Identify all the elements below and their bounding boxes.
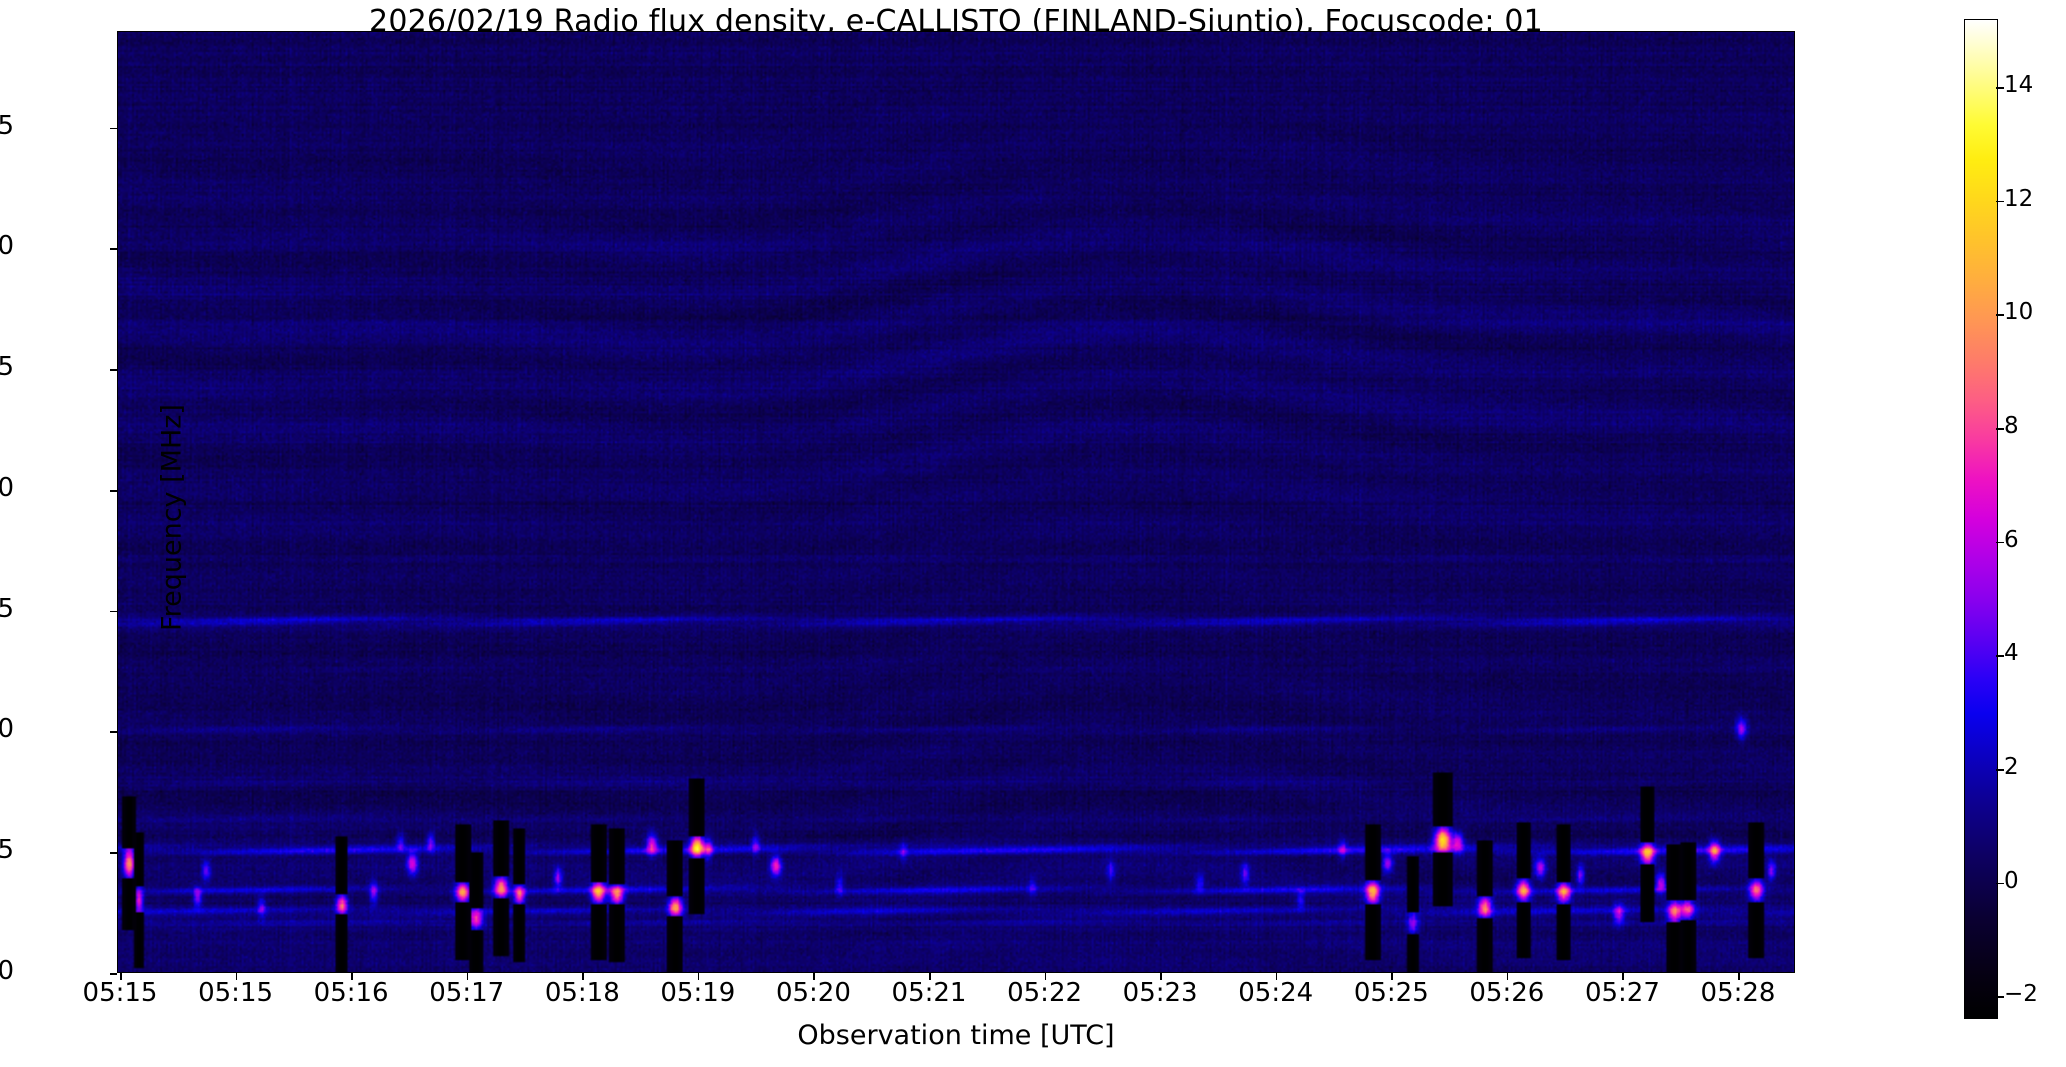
colorbar-tick-mark (1996, 542, 2004, 544)
colorbar-tick-mark (1996, 201, 2004, 203)
spectrogram-figure: 2026/02/19 Radio flux density, e-CALLIST… (0, 0, 2066, 1067)
y-tick-mark (110, 611, 117, 613)
x-tick-mark (1391, 973, 1393, 980)
colorbar-tick-mark (1996, 428, 2004, 430)
y-tick-mark (110, 248, 117, 250)
x-tick-mark (1045, 973, 1047, 980)
colorbar-tick-mark (1996, 996, 2004, 998)
colorbar-tick-mark (1996, 655, 2004, 657)
y-tick-mark (110, 973, 117, 975)
y-tick-label: 275 (0, 111, 14, 141)
colorbar-tick-label: 14 (2004, 72, 2066, 98)
colorbar-tick-label: 12 (2004, 186, 2066, 212)
x-tick-mark (813, 973, 815, 980)
y-tick-label: 175 (0, 594, 14, 624)
colorbar-tick-label: 6 (2004, 527, 2066, 553)
y-axis-label: Frequency [MHz] (157, 338, 188, 698)
colorbar-tick-label: 2 (2004, 754, 2066, 780)
colorbar-tick-mark (1996, 769, 2004, 771)
x-tick-label: 05:28 (1658, 978, 1818, 1008)
x-tick-mark (582, 973, 584, 980)
y-tick-mark (110, 490, 117, 492)
y-tick-label: 150 (0, 714, 14, 744)
y-tick-mark (110, 852, 117, 854)
y-tick-label: 100 (0, 956, 14, 986)
colorbar-tick-label: −2 (2004, 981, 2066, 1007)
colorbar-tick-label: 8 (2004, 413, 2066, 439)
x-tick-mark (1738, 973, 1740, 980)
x-tick-mark (698, 973, 700, 980)
spectrogram-canvas (118, 32, 1794, 972)
x-axis-label: Observation time [UTC] (117, 1020, 1795, 1051)
y-tick-label: 250 (0, 231, 14, 261)
colorbar[interactable] (1964, 19, 1998, 1019)
colorbar-tick-label: 10 (2004, 299, 2066, 325)
x-tick-mark (1622, 973, 1624, 980)
colorbar-tick-label: 0 (2004, 868, 2066, 894)
y-tick-mark (110, 128, 117, 130)
colorbar-tick-mark (1996, 314, 2004, 316)
spectrogram-image (118, 32, 1794, 972)
x-tick-mark (1507, 973, 1509, 980)
y-tick-label: 200 (0, 473, 14, 503)
y-tick-label: 225 (0, 352, 14, 382)
y-tick-label: 125 (0, 835, 14, 865)
x-tick-mark (1276, 973, 1278, 980)
y-tick-mark (110, 731, 117, 733)
x-tick-mark (929, 973, 931, 980)
x-tick-mark (236, 973, 238, 980)
x-tick-mark (120, 973, 122, 980)
y-tick-mark (110, 369, 117, 371)
colorbar-tick-label: 4 (2004, 640, 2066, 666)
spectrogram-plot-area[interactable] (117, 31, 1795, 973)
x-tick-mark (351, 973, 353, 980)
x-tick-mark (467, 973, 469, 980)
colorbar-tick-mark (1996, 883, 2004, 885)
colorbar-tick-mark (1996, 87, 2004, 89)
x-tick-mark (1160, 973, 1162, 980)
